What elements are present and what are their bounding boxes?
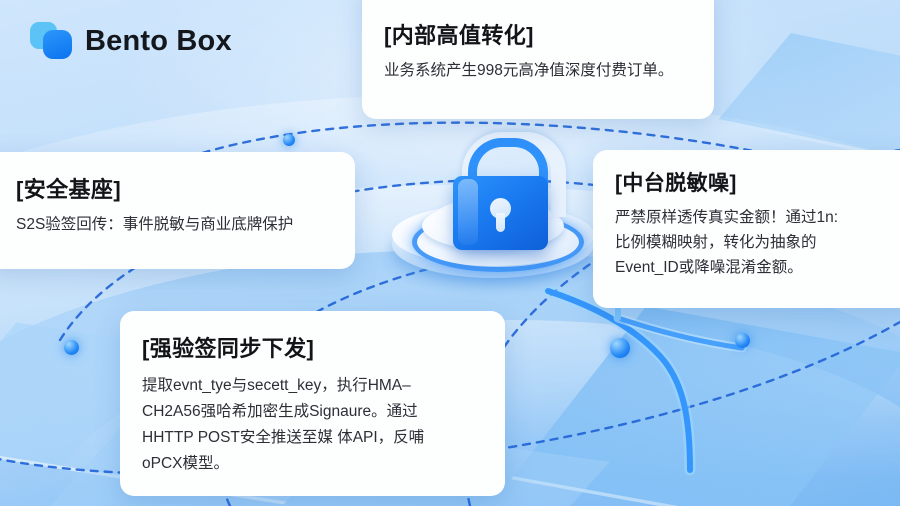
- card-body-line: 严禁原样透传真实金额！通过1n:: [615, 205, 838, 230]
- brand-logo[interactable]: Bento Box: [30, 22, 232, 60]
- card-body: 严禁原样透传真实金额！通过1n: 比例模糊映射，转化为抽象的 Event_ID或…: [615, 205, 838, 280]
- card-body-line: HHTTP POST安全推送至媒 体API，反哺: [142, 425, 424, 451]
- bento-box-logo-icon: [30, 22, 72, 60]
- card-body: 业务系统产生998元高净值深度付费订单。: [384, 58, 673, 80]
- brand-name: Bento Box: [85, 25, 232, 58]
- card-title: [安全基座]: [16, 172, 121, 204]
- padlock-illustration: [386, 128, 600, 300]
- card-body-line: oPCX模型。: [142, 451, 424, 477]
- card-title: [中台脱敏噪]: [615, 167, 737, 197]
- card-body-line: CH2A56强哈希加密生成Signaure。通过: [142, 399, 424, 425]
- decor-node-4: [610, 338, 630, 358]
- logo-square-front: [43, 30, 72, 59]
- card-strong-signature-sync-delivery: [强验签同步下发] 提取evnt_tye与secett_key，执行HMA– C…: [120, 311, 505, 496]
- padlock-keyslot-icon: [496, 213, 505, 232]
- padlock-body-highlight: [458, 179, 478, 245]
- card-internal-high-value-conversion: [内部高值转化] 业务系统产生998元高净值深度付费订单。: [362, 0, 714, 119]
- card-title: [强验签同步下发]: [142, 331, 314, 363]
- card-body-line: 比例模糊映射，转化为抽象的: [615, 230, 838, 255]
- card-body: 提取evnt_tye与secett_key，执行HMA– CH2A56强哈希加密…: [142, 373, 424, 477]
- slide-canvas: Bento Box [内部高值转化] 业务系统产生998元高净值深度付费订单。 …: [0, 0, 900, 506]
- decor-node-3: [735, 333, 750, 348]
- card-body-line: Event_ID或降噪混淆金额。: [615, 255, 838, 280]
- card-security-foundation: [安全基座] S2S验签回传：事件脱敏与商业底牌保护: [0, 152, 355, 269]
- decor-node-1: [283, 134, 295, 146]
- card-midend-desensitization-noise: [中台脱敏噪] 严禁原样透传真实金额！通过1n: 比例模糊映射，转化为抽象的 E…: [593, 150, 900, 308]
- card-title: [内部高值转化]: [384, 18, 534, 50]
- decor-node-2: [64, 340, 79, 355]
- card-body: S2S验签回传：事件脱敏与商业底牌保护: [16, 212, 293, 234]
- card-body-line: 提取evnt_tye与secett_key，执行HMA–: [142, 373, 424, 399]
